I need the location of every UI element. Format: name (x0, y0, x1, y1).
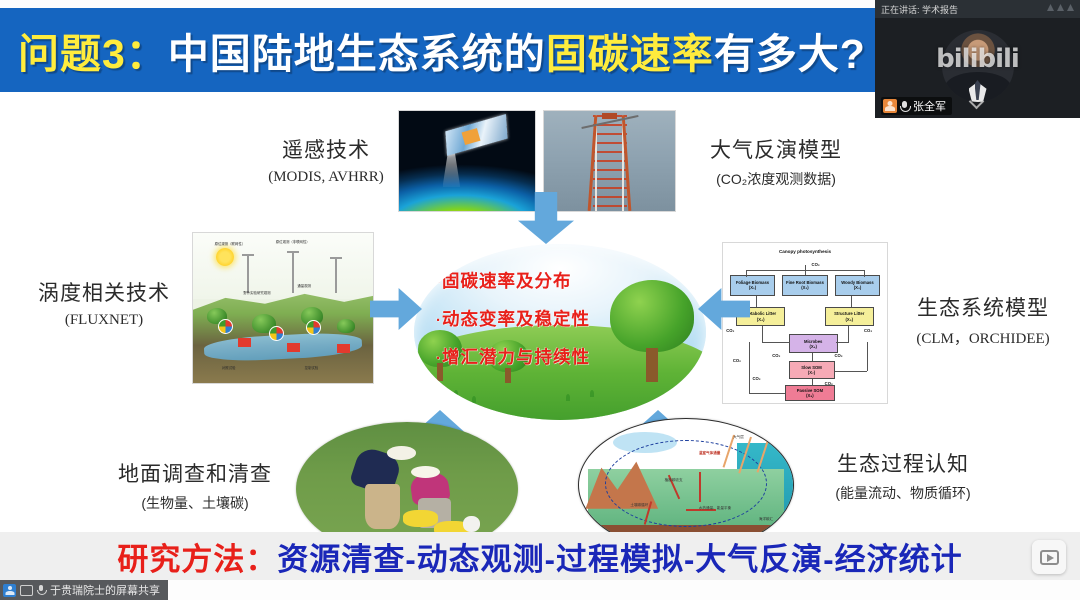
label-eddy-covariance-en: (FLUXNET) (14, 312, 194, 329)
label-remote-sensing-en: (MODIS, AVHRR) (246, 169, 406, 186)
research-method-text: 研究方法：资源清查-动态观测-过程模拟-大气反演-经济统计 (117, 534, 962, 579)
label-ecosystem-model-en: (CLM，ORCHIDEE) (888, 327, 1078, 348)
slide-body: 遥感技术 (MODIS, AVHRR) 大气反演模型 (CO₂浓度观测数据) 涡… (0, 92, 1080, 532)
model-box-woody-sym: (X₃) (854, 285, 862, 290)
video-overlay-stage: bilibili 张全军 (875, 18, 1080, 118)
model-co2-mid-2: CO₂ (835, 353, 843, 358)
screen-share-status-bar: 于贵瑞院士的屏幕共享 (0, 580, 168, 600)
surveyor-1-legs (365, 484, 401, 530)
chevron-down-icon[interactable] (971, 96, 985, 104)
label-ground-survey-cn: 地面调查和清查 (96, 458, 294, 488)
label-eddy-covariance: 涡度相关技术 (FLUXNET) (14, 277, 194, 329)
model-line-v-e (851, 296, 852, 307)
model-line-v-i (812, 379, 813, 385)
core-item-0: ·固碳速率及分布 (436, 268, 688, 293)
model-box-structure-litter: Structure Litter (X₅) (825, 307, 874, 326)
model-box-metabolic-litter-sym: (X₄) (757, 317, 765, 322)
title-highlight: 固碳速率 (546, 31, 714, 77)
flux-label-4: 对照试验 (222, 365, 236, 370)
model-box-passive-som: Passive SOM (X₈) (785, 385, 834, 401)
speaking-status-label: 正在讲话: 学术报告 (881, 3, 958, 16)
model-box-foliage: Foliage Biomass (X₁) (730, 275, 776, 296)
flux-site-marker-1 (218, 319, 233, 334)
label-eco-process: 生态过程认知 (能量流动、物质循环) (798, 448, 1008, 503)
model-line-v-f (762, 326, 763, 342)
model-co2-top: CO₂ (812, 262, 820, 267)
model-line-v-j (749, 342, 750, 393)
sample-bag-3 (463, 516, 481, 532)
process-label-4: 大气层 (733, 435, 744, 440)
mic-icon (37, 585, 46, 596)
label-remote-sensing: 遥感技术 (MODIS, AVHRR) (246, 134, 406, 186)
surveyor-1-hat (387, 446, 416, 459)
bilibili-watermark: bilibili (936, 44, 1019, 74)
core-grass-3 (566, 394, 570, 401)
core-ellipse: ·固碳速率及分布 ·动态变率及稳定性 ·增汇潜力与持续性 (414, 244, 706, 420)
model-box-microbes: Microbes (X₆) (789, 334, 838, 353)
title-middle: 中国陆地生态系统的 (168, 31, 546, 77)
model-line-v-d (756, 296, 757, 307)
flux-plot-flag-1 (238, 338, 251, 347)
label-eddy-covariance-cn: 涡度相关技术 (14, 277, 194, 307)
label-atmospheric-inversion-cn: 大气反演模型 (676, 134, 876, 164)
research-method-chain: 资源清查-动态观测-过程模拟-大气反演-经济统计 (277, 542, 962, 577)
label-eco-process-cn: 生态过程认知 (798, 448, 1008, 478)
process-arrow-2 (699, 472, 701, 502)
core-item-0-text: 固碳速率及分布 (442, 271, 572, 291)
model-box-fineroot-sym: (X₂) (801, 285, 808, 290)
flux-tower-icon-2 (292, 251, 294, 293)
process-label-2: 土壤碳循环 (630, 503, 648, 508)
flux-label-0: 原位观测（联网性） (215, 241, 246, 246)
flux-plot-flag-3 (337, 344, 350, 353)
play-screen-icon (1040, 550, 1059, 565)
process-label-5: 海洋碳汇 (759, 517, 773, 522)
model-line-v-g (848, 326, 849, 342)
page-title: 问题3：中国陆地生态系统的固碳速率有多大? (18, 20, 866, 80)
model-title: Canopy photosynthesis (779, 249, 831, 254)
flux-site-marker-2 (269, 326, 284, 341)
model-co2-left-2: CO₂ (733, 358, 741, 363)
model-co2-mid-1: CO₂ (772, 353, 780, 358)
participant-name-label: 张全军 (913, 98, 946, 114)
ecosystem-model-diagram: Canopy photosynthesis CO₂ Foliage Biomas… (722, 242, 888, 404)
tower-top (602, 113, 618, 119)
core-grass-4 (590, 390, 594, 397)
model-box-woody: Woody Biomass (X₃) (835, 275, 881, 296)
satellite-photo (398, 110, 536, 212)
flux-tower-icon-1 (247, 254, 249, 293)
flux-tower-photo (543, 110, 676, 212)
title-suffix: 有多大? (714, 31, 866, 77)
flux-label-2: 野外实验研究观测 (243, 290, 270, 295)
model-box-foliage-sym: (X₁) (749, 285, 756, 290)
screen-share-label: 于贵瑞院士的屏幕共享 (50, 582, 160, 598)
core-item-1-text: 动态变率及稳定性 (442, 309, 590, 329)
signal-bars-icon (1047, 4, 1074, 11)
microphone-icon (900, 100, 910, 112)
label-ground-survey: 地面调查和清查 (生物量、土壤碳) (96, 458, 294, 513)
model-line-v-a (746, 270, 747, 276)
flux-plot-flag-2 (287, 343, 300, 352)
model-line-h-mid2 (836, 342, 849, 343)
sample-bag-1 (403, 510, 439, 526)
participant-nametag: 张全军 (881, 97, 952, 115)
floating-player-button[interactable] (1032, 540, 1066, 574)
flux-bush-4 (337, 319, 355, 333)
process-label-3: 水热通量、能量平衡 (699, 506, 731, 511)
model-line-v-b (805, 265, 806, 275)
core-item-1: ·动态变率及稳定性 (436, 306, 688, 331)
process-label-1: 植被碳收支 (665, 478, 683, 483)
model-line-v-k (867, 342, 868, 371)
model-line-v-h (812, 353, 813, 361)
core-item-2-text: 增汇潜力与持续性 (442, 347, 590, 367)
model-box-passive-som-sym: (X₈) (806, 393, 814, 398)
label-ecosystem-model-cn: 生态系统模型 (888, 292, 1078, 322)
model-line-h-mid (762, 342, 790, 343)
slide-bottom-banner: 研究方法：资源清查-动态观测-过程模拟-大气反演-经济统计 (0, 532, 1080, 580)
flux-tower-icon-3 (335, 257, 337, 293)
core-item-2: ·增汇潜力与持续性 (436, 344, 688, 369)
core-grass-1 (454, 390, 458, 397)
model-box-slow-som-sym: (X₇) (808, 370, 815, 375)
model-co2-left-3: CO₂ (753, 376, 761, 381)
process-label-0: 温室气体通量 (699, 451, 721, 456)
screen-share-icon (20, 585, 33, 596)
flux-label-3: 通量观测 (297, 283, 311, 288)
model-co2-left-1: CO₂ (726, 328, 734, 333)
label-eco-process-en: (能量流动、物质循环) (798, 483, 1008, 503)
model-box-microbes-sym: (X₆) (809, 344, 816, 349)
label-ecosystem-model: 生态系统模型 (CLM，ORCHIDEE) (888, 292, 1078, 348)
model-line-v-c (864, 270, 865, 276)
model-co2-right-1: CO₂ (864, 328, 872, 333)
core-item-list: ·固碳速率及分布 ·动态变率及稳定性 ·增汇潜力与持续性 (436, 268, 688, 382)
fluxnet-landscape-diagram: 原位观测（联网性） 原位观测（非联网性） 野外实验研究观测 通量观测 对照试验 … (192, 232, 374, 384)
research-method-prefix: 研究方法： (117, 542, 277, 577)
process-boundary-dashed (605, 440, 768, 527)
avatar (883, 99, 897, 113)
label-atmospheric-inversion-en: (CO₂浓度观测数据) (676, 169, 876, 189)
model-box-slow-som: Slow SOM (X₇) (789, 361, 835, 379)
model-box-structure-litter-sym: (X₅) (846, 317, 854, 322)
model-line-h-right (835, 371, 868, 372)
label-remote-sensing-cn: 遥感技术 (246, 134, 406, 164)
model-box-fineroot: Fine Root Biomass (X₂) (782, 275, 828, 296)
label-ground-survey-en: (生物量、土壤碳) (96, 493, 294, 513)
title-prefix: 问题3： (18, 31, 168, 77)
core-grass-2 (472, 396, 476, 403)
video-overlay-panel[interactable]: 正在讲话: 学术报告 bilibili 张全军 (875, 0, 1080, 118)
model-co2-mid-3: CO₂ (825, 381, 833, 386)
flux-label-5: 控制试验 (305, 365, 319, 370)
flux-label-1: 原位观测（非联网性） (276, 239, 310, 244)
sharer-avatar (3, 584, 16, 597)
video-overlay-topbar: 正在讲话: 学术报告 (875, 0, 1080, 18)
model-line-h-bot (749, 393, 785, 394)
screen-share-view: 问题3：中国陆地生态系统的固碳速率有多大? 遥感技术 (MODIS, AVHRR… (0, 0, 1080, 600)
label-atmospheric-inversion: 大气反演模型 (CO₂浓度观测数据) (676, 134, 876, 189)
